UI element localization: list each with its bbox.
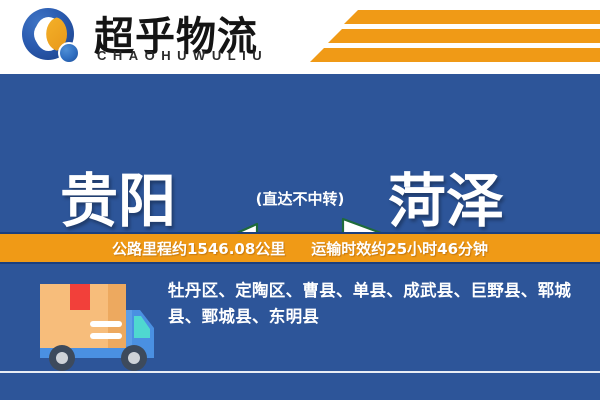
decorative-stripes-icon [280, 8, 600, 68]
coverage-area-list: 牡丹区、定陶区、曹县、单县、成武县、巨野县、郓城县、鄄城县、东明县 [168, 278, 582, 329]
destination-city: 菏泽 [388, 154, 504, 238]
logo-accent-dot-icon [58, 42, 80, 64]
origin-city: 贵阳 [60, 154, 176, 238]
footer-strip [0, 373, 600, 400]
route-panel: 贵阳 (直达不中转) 【往返运输】 菏泽 [0, 74, 600, 232]
header: 超乎物流 CHAOHUWULIU [0, 0, 600, 74]
route-note-direct: (直达不中转) [225, 188, 375, 209]
duration-label: 运输时效约25小时46分钟 [311, 238, 488, 259]
route-info-bar: 公路里程约1546.08公里 运输时效约25小时46分钟 [0, 232, 600, 264]
brand-name-en: CHAOHUWULIU [97, 48, 268, 63]
brand-logo-icon [22, 8, 84, 66]
distance-label: 公路里程约1546.08公里 [112, 238, 285, 259]
delivery-truck-icon [28, 276, 160, 376]
logistics-route-banner: 超乎物流 CHAOHUWULIU 贵阳 (直达不中转) 【往返运输】 菏泽 公路… [0, 0, 600, 400]
